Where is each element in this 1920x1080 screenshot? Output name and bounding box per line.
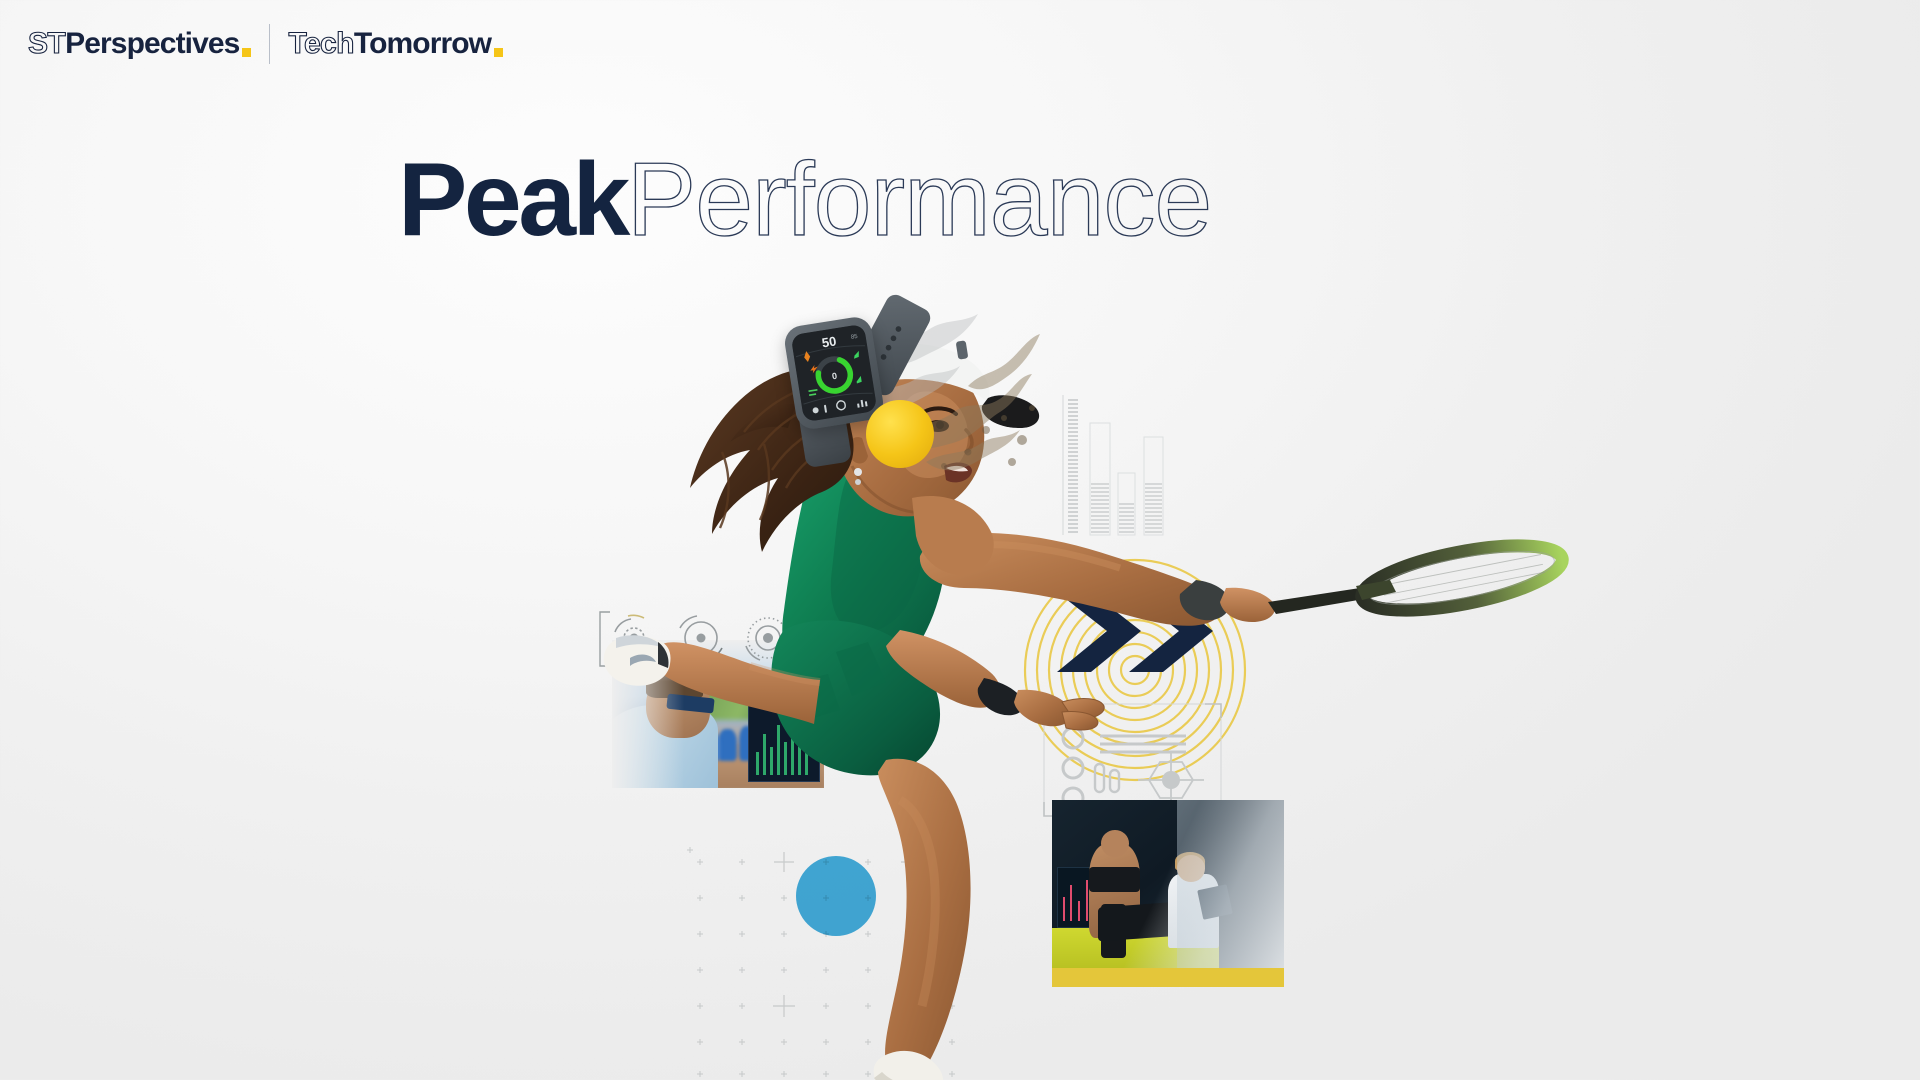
logo-stperspectives[interactable]: ST Perspectives	[28, 29, 251, 59]
logo-dot-secondary	[494, 48, 503, 57]
logo-tomorrow-solid: Tomorrow	[354, 29, 491, 59]
logo-st-outline: ST	[28, 29, 65, 59]
watch-top-metric: 50	[821, 333, 838, 350]
watch-case: 50 85 0	[782, 315, 885, 431]
brand-logo-lockup[interactable]: ST Perspectives Tech Tomorrow	[28, 24, 503, 64]
logo-techtomorrow[interactable]: Tech Tomorrow	[288, 29, 503, 59]
blue-accent-circle	[796, 856, 876, 936]
hero-canvas: ST Perspectives Tech Tomorrow PeakPerfor…	[0, 0, 1920, 1080]
logo-dot-primary	[242, 48, 251, 57]
tennis-racket	[1268, 533, 1567, 623]
logo-perspectives-solid: Perspectives	[65, 29, 239, 59]
headline-word-performance: Performance	[627, 142, 1211, 258]
page-title: PeakPerformance	[398, 148, 1211, 252]
logo-divider	[269, 24, 270, 64]
logo-tech-outline: Tech	[288, 29, 353, 59]
headline-word-peak: Peak	[398, 142, 627, 258]
yellow-accent-circle	[866, 400, 934, 468]
watch-screen[interactable]: 50 85 0	[791, 324, 878, 422]
